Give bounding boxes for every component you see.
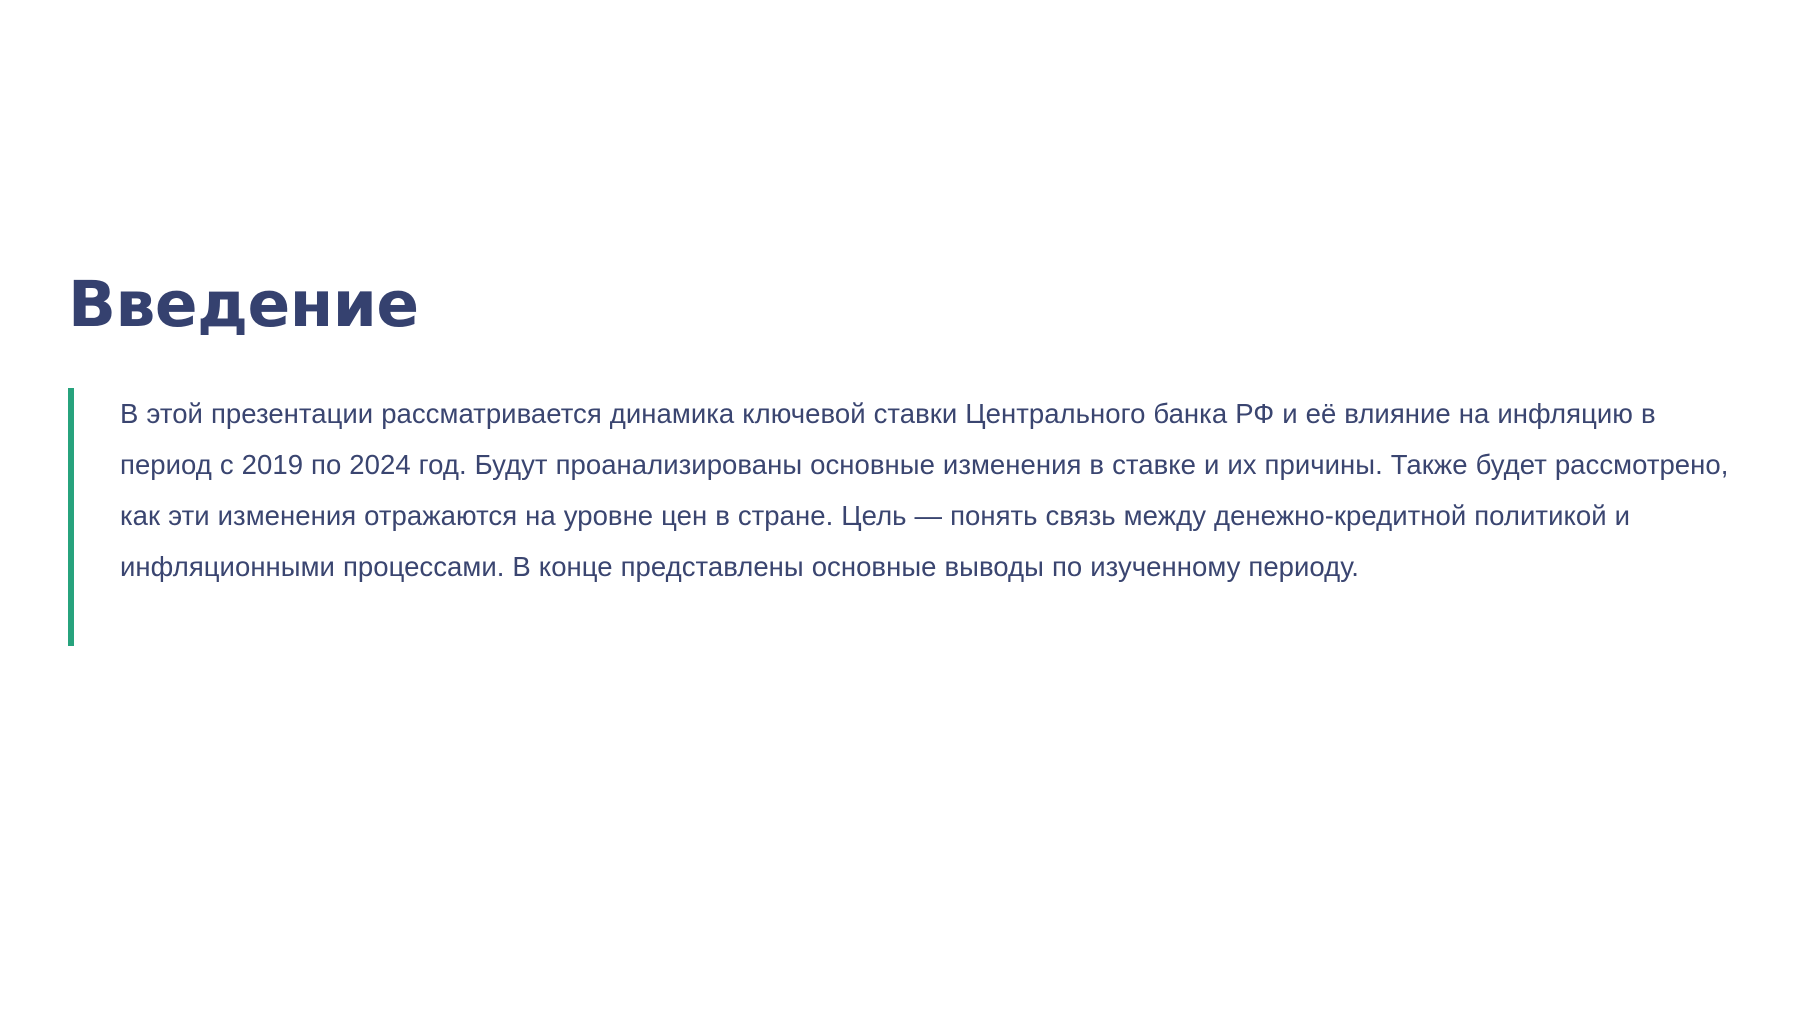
- slide-content: Введение В этой презентации рассматривае…: [68, 272, 1748, 646]
- presentation-slide: Введение В этой презентации рассматривае…: [0, 0, 1800, 1013]
- page-title: Введение: [68, 272, 1748, 338]
- body-block: В этой презентации рассматривается динам…: [68, 388, 1732, 646]
- body-paragraph: В этой презентации рассматривается динам…: [74, 388, 1732, 646]
